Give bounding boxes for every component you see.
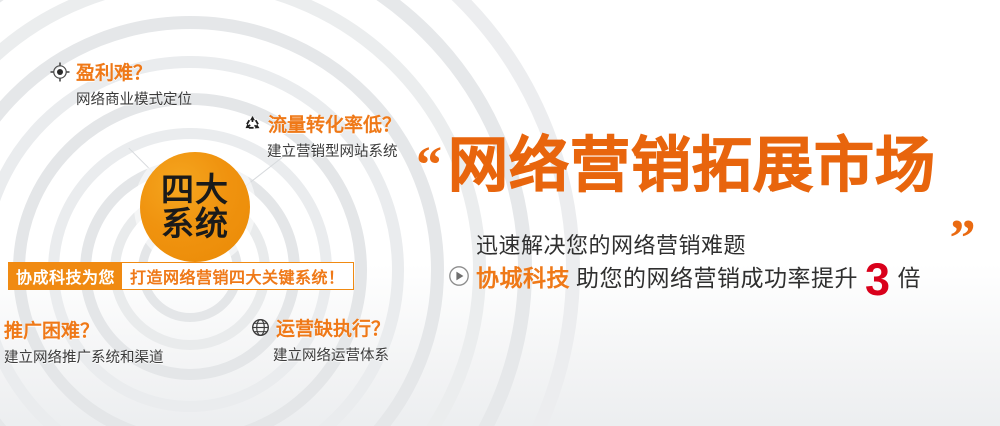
feature-desc: 建立网络推广系统和渠道 [4,346,164,367]
subline-primary: 迅速解决您的网络营销难题 [476,228,746,260]
quote-close-mark: „ [950,186,976,238]
feature-desc: 建立网络运营体系 [273,344,390,365]
slogan-bar: 协成科技为您 打造网络营销四大关键系统！ [8,262,354,290]
brand-name: 协城科技 [476,259,570,293]
subline-secondary-text: 助您的网络营销成功率提升 [576,259,858,293]
feature-title-row: 推广困难？ [4,316,164,343]
target-crosshair-icon [50,62,70,82]
feature-item-profit: 盈利难？ 网络商业模式定位 [76,58,192,109]
feature-title-row: 运营缺执行？ [251,314,390,341]
feature-desc: 建立营销型网站系统 [267,140,401,161]
slogan-right-label: 打造网络营销四大关键系统！ [122,263,353,289]
page-title: 网络营销拓展市场 [448,136,936,196]
marketing-banner: 四大 系统 盈利难？ 网络商业模式定位 [0,0,1000,426]
badge-line-1: 四大 [161,173,229,207]
feature-item-conversion: 流量转化率低？ 建立营销型网站系统 [243,110,401,161]
feature-title-row: 盈利难？ [76,58,192,85]
feature-item-promotion: 推广困难？ 建立网络推广系统和渠道 [4,316,164,367]
badge-line-2: 系统 [161,207,229,241]
center-badge: 四大 系统 [140,152,250,262]
subline-secondary: 协城科技 助您的网络营销成功率提升 3 倍 [448,258,921,294]
recycle-icon [243,114,262,133]
play-circle-icon [448,265,470,287]
feature-title: 推广困难？ [4,316,99,343]
feature-title: 盈利难？ [76,58,152,85]
feature-item-operation: 运营缺执行？ 建立网络运营体系 [251,314,390,365]
globe-icon [251,318,270,337]
feature-title-row: 流量转化率低？ [243,110,401,137]
feature-desc: 网络商业模式定位 [76,88,192,109]
slogan-left-label: 协成科技为您 [9,263,122,289]
quote-open-mark: “ [416,140,442,192]
feature-title: 运营缺执行？ [276,314,390,341]
multiplier-unit: 倍 [898,259,922,293]
feature-title: 流量转化率低？ [268,110,401,137]
multiplier-number: 3 [865,262,891,298]
